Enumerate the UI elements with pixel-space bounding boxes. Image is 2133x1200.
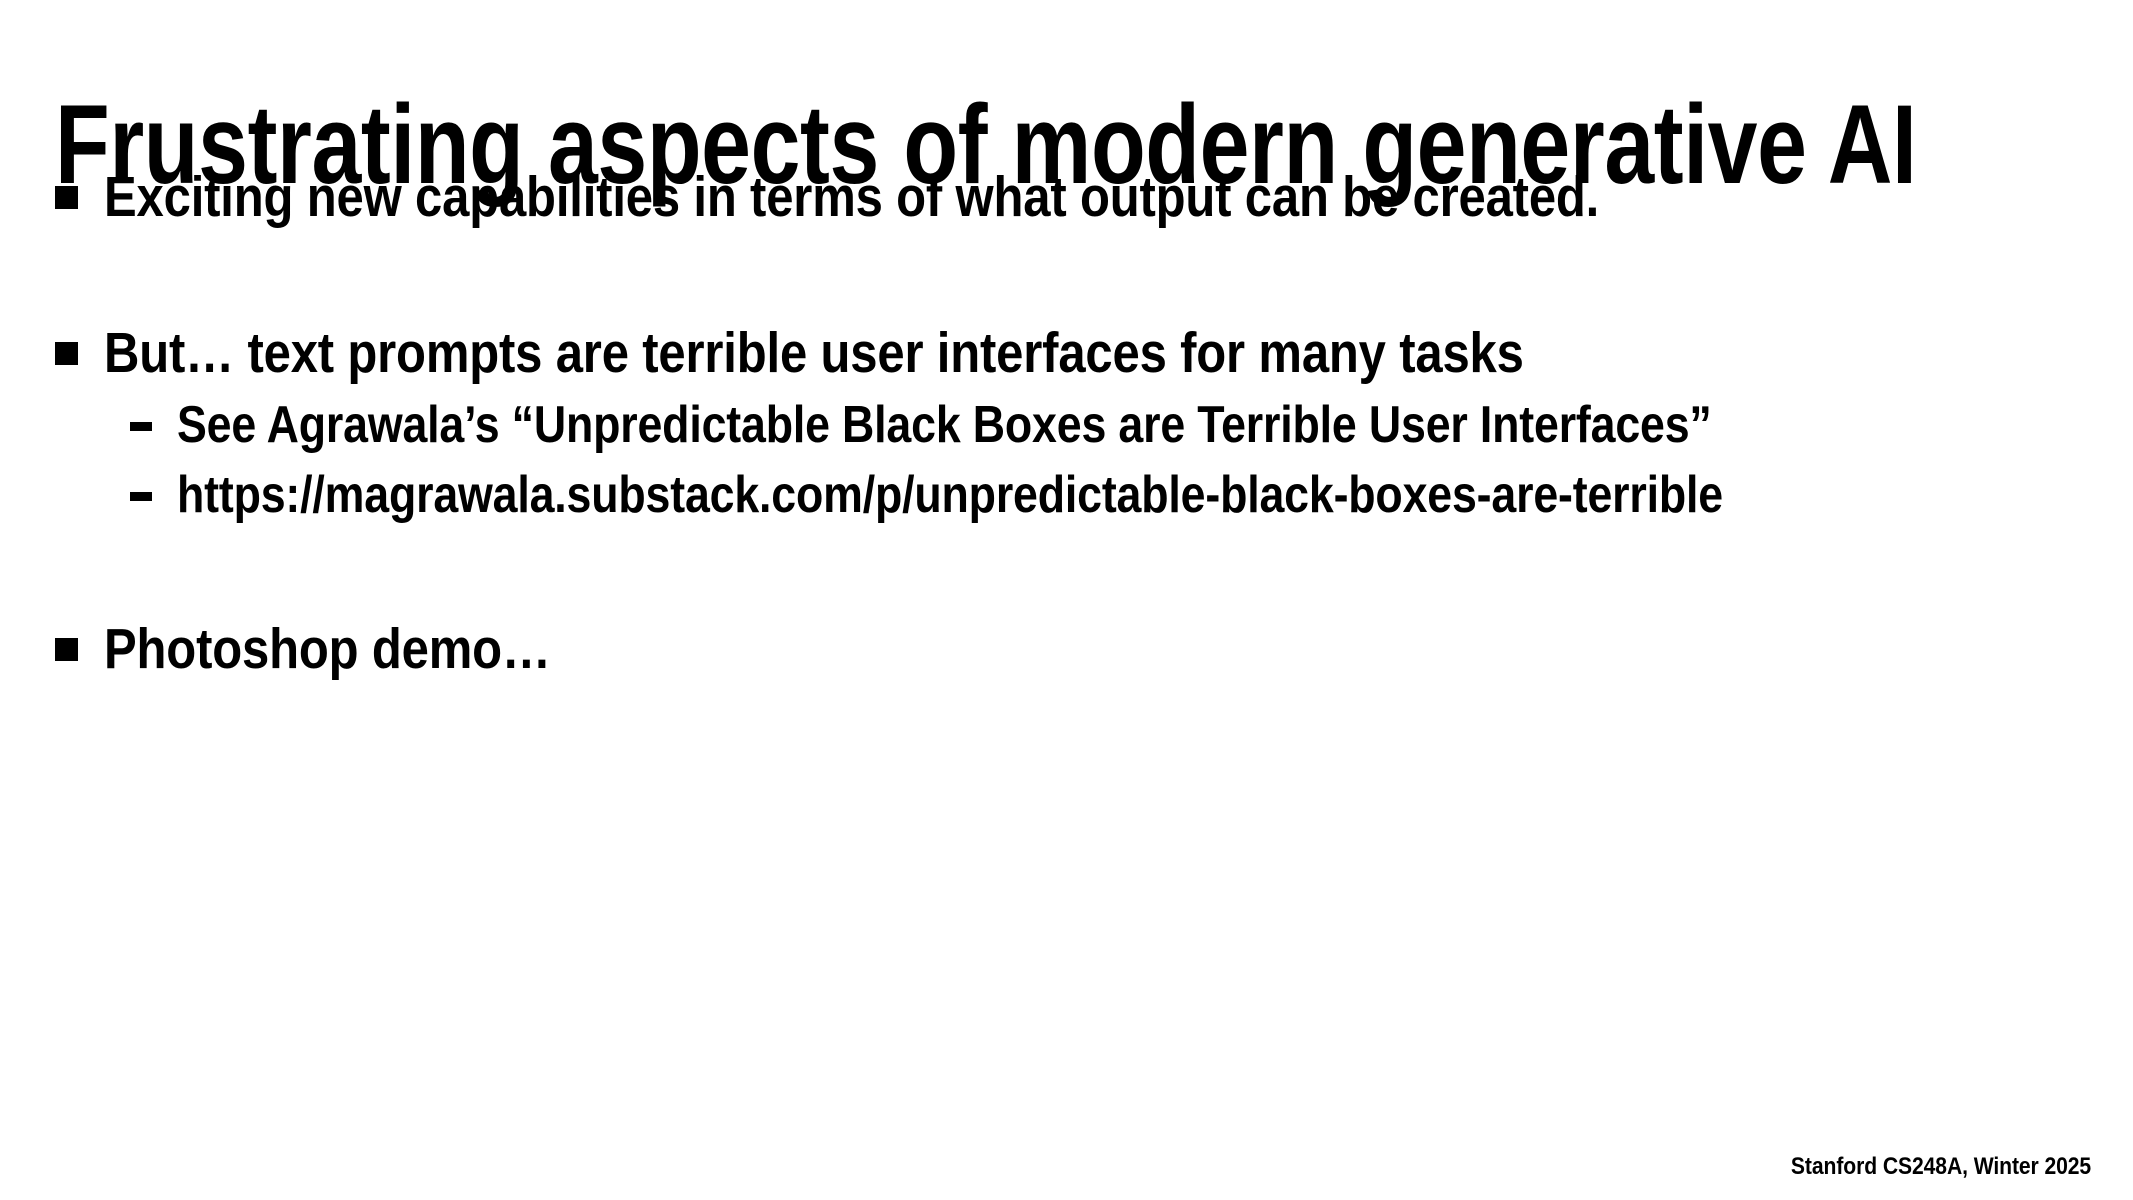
- list-item: https://magrawala.substack.com/p/unpredi…: [0, 460, 2133, 530]
- square-bullet-icon: [55, 186, 78, 209]
- bullet-text: But… text prompts are terrible user inte…: [104, 316, 1524, 390]
- list-item: See Agrawala’s “Unpredictable Black Boxe…: [0, 390, 2133, 460]
- slide-canvas: Frustrating aspects of modern generative…: [0, 0, 2133, 1200]
- dash-bullet-icon: [130, 422, 152, 431]
- bullet-text: See Agrawala’s “Unpredictable Black Boxe…: [177, 390, 1712, 460]
- list-item: Exciting new capabilities in terms of wh…: [0, 160, 2133, 234]
- bullet-text: Photoshop demo…: [104, 612, 551, 686]
- bullet-list: Exciting new capabilities in terms of wh…: [0, 160, 2133, 686]
- dash-bullet-icon: [130, 492, 152, 501]
- spacer: [0, 234, 2133, 316]
- bullet-text: Exciting new capabilities in terms of wh…: [104, 160, 1599, 234]
- square-bullet-icon: [55, 342, 78, 365]
- list-item: But… text prompts are terrible user inte…: [0, 316, 2133, 390]
- bullet-link-text[interactable]: https://magrawala.substack.com/p/unpredi…: [177, 460, 1723, 530]
- spacer: [0, 530, 2133, 612]
- square-bullet-icon: [55, 638, 78, 661]
- slide-footer: Stanford CS248A, Winter 2025: [1791, 1152, 2091, 1182]
- list-item: Photoshop demo…: [0, 612, 2133, 686]
